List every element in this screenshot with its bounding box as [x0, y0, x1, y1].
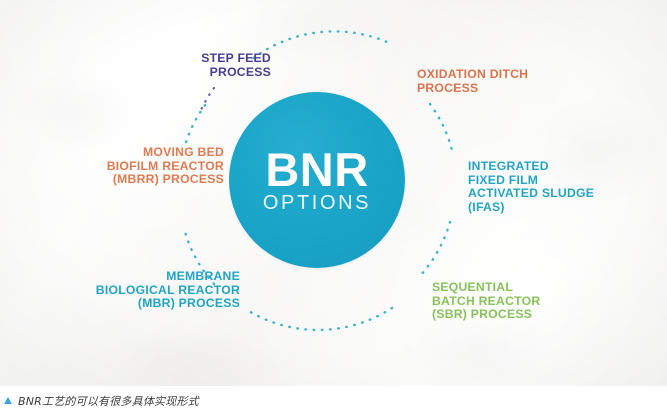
diagram-canvas: BNR OPTIONS STEP FEED PROCESS OXIDATION … — [0, 0, 667, 386]
hub-title: BNR — [265, 147, 368, 192]
caption-bar: BNR工艺的可以有很多具体实现形式 — [0, 386, 667, 415]
diagram-screenshot: BNR OPTIONS STEP FEED PROCESS OXIDATION … — [0, 0, 667, 415]
label-oxidation-ditch-process: OXIDATION DITCH PROCESS — [417, 68, 597, 95]
label-step-feed-process: STEP FEED PROCESS — [121, 52, 271, 79]
caption-text: BNR工艺的可以有很多具体实现形式 — [18, 393, 199, 409]
label-moving-bed-biofilm-reactor-process: MOVING BED BIOFILM REACTOR (MBRR) PROCES… — [48, 146, 224, 187]
label-membrane-biological-reactor-process: MEMBRANE BIOLOGICAL REACTOR (MBR) PROCES… — [54, 270, 240, 311]
triangle-up-icon — [4, 397, 12, 404]
center-circle: BNR OPTIONS — [229, 92, 405, 268]
hub-subtitle: OPTIONS — [263, 193, 371, 213]
label-integrated-fixed-film-activated-sludge: INTEGRATED FIXED FILM ACTIVATED SLUDGE (… — [468, 160, 648, 214]
label-sequential-batch-reactor-process: SEQUENTIAL BATCH REACTOR (SBR) PROCESS — [432, 281, 612, 322]
